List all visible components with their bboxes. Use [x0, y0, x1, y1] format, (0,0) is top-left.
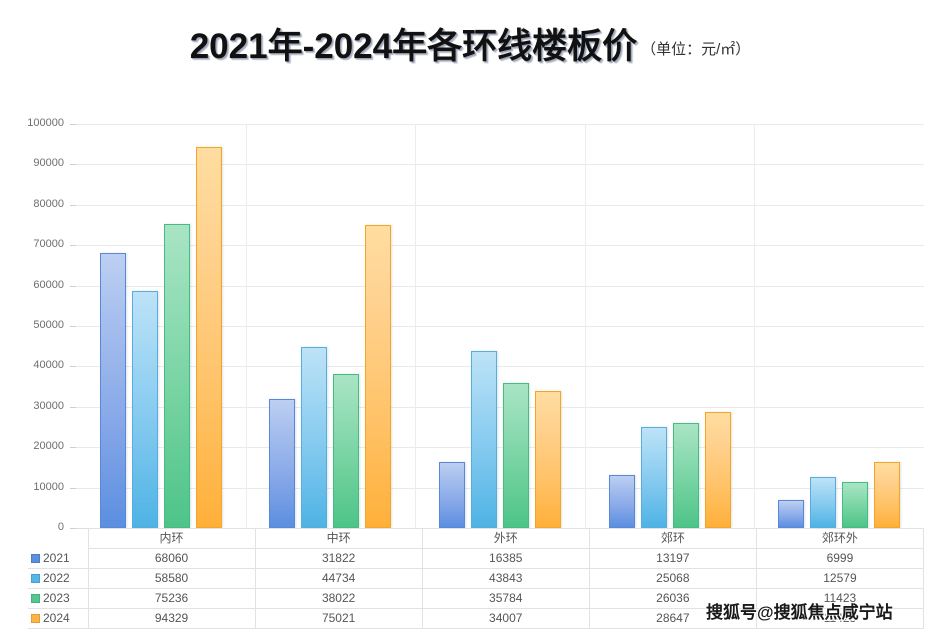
table-cell: 25068 — [589, 569, 756, 589]
y-axis-label-text: 20000 — [33, 440, 64, 452]
watermark-label: 搜狐号@搜狐焦点咸宁站 — [706, 598, 893, 623]
legend-swatch-icon — [31, 594, 40, 603]
bar-2021-内环[interactable] — [100, 253, 126, 528]
legend-swatch-icon — [31, 554, 40, 563]
y-axis-tick — [70, 205, 76, 206]
table-cell: 35784 — [422, 589, 589, 609]
table-cell: 58580 — [88, 569, 255, 589]
table-cell: 16385 — [422, 549, 589, 569]
chart-page: 2021年-2024年各环线楼板价（单位：元/㎡） 10000090000800… — [0, 0, 940, 635]
table-column-header-中环: 中环 — [255, 529, 422, 549]
table-row: 2021680603182216385131976999 — [28, 549, 924, 569]
legend-item-2022[interactable]: 2022 — [28, 569, 88, 589]
legend-label: 2023 — [43, 591, 70, 605]
title-unit-label: （单位：元/㎡） — [641, 41, 750, 58]
bar-2023-中环[interactable] — [333, 374, 359, 528]
category-separator — [754, 124, 755, 528]
legend-item-2021[interactable]: 2021 — [28, 549, 88, 569]
bar-2024-中环[interactable] — [365, 225, 391, 528]
bar-2023-郊环外[interactable] — [842, 482, 868, 528]
y-axis-label-text: 70000 — [33, 238, 64, 250]
table-cell: 75236 — [88, 589, 255, 609]
category-separator — [415, 124, 416, 528]
legend-swatch-icon — [31, 574, 40, 583]
table-cell: 13197 — [589, 549, 756, 569]
page-title: 2021年-2024年各环线楼板价 — [190, 27, 637, 66]
y-axis-tick — [70, 245, 76, 246]
y-axis-tick — [70, 407, 76, 408]
table-header: 内环中环外环郊环郊环外 — [28, 529, 924, 549]
legend-item-2024[interactable]: 2024 — [28, 609, 88, 629]
y-axis-label-text: 10000 — [33, 481, 64, 493]
bar-2023-郊环[interactable] — [673, 423, 699, 528]
y-axis-label-text: 100000 — [27, 117, 64, 129]
table-column-header-内环: 内环 — [88, 529, 255, 549]
legend-label: 2021 — [43, 551, 70, 565]
table-cell: 31822 — [255, 549, 422, 569]
bar-2022-外环[interactable] — [471, 351, 497, 528]
table-column-header-外环: 外环 — [422, 529, 589, 549]
table-cell: 75021 — [255, 609, 422, 629]
y-axis-label-text: 80000 — [33, 198, 64, 210]
category-separator — [246, 124, 247, 528]
y-axis-label-text: 90000 — [33, 157, 64, 169]
table-cell: 43843 — [422, 569, 589, 589]
table-cell: 38022 — [255, 589, 422, 609]
bar-2021-中环[interactable] — [269, 399, 295, 528]
table-cell: 6999 — [756, 549, 923, 569]
bar-2024-郊环外[interactable] — [874, 462, 900, 528]
bar-2022-内环[interactable] — [132, 291, 158, 528]
y-axis-label-text: 50000 — [33, 319, 64, 331]
y-axis-tick — [70, 124, 76, 125]
y-axis-tick — [70, 286, 76, 287]
y-axis-label-text: 40000 — [33, 359, 64, 371]
y-axis-label-text: 30000 — [33, 400, 64, 412]
y-axis-tick — [70, 164, 76, 165]
table-cell: 68060 — [88, 549, 255, 569]
legend-label: 2022 — [43, 571, 70, 585]
y-axis-tick — [70, 447, 76, 448]
bar-chart-plot-area: 1000009000080000700006000050000400003000… — [76, 124, 924, 528]
bar-2021-郊环外[interactable] — [778, 500, 804, 528]
table-column-header-郊环外: 郊环外 — [756, 529, 923, 549]
bar-2022-中环[interactable] — [301, 347, 327, 528]
category-separator — [585, 124, 586, 528]
table-cell: 34007 — [422, 609, 589, 629]
y-axis-tick — [70, 366, 76, 367]
table-cell: 12579 — [756, 569, 923, 589]
bar-2021-外环[interactable] — [439, 462, 465, 528]
bar-2024-郊环[interactable] — [705, 412, 731, 528]
y-axis-label-text: 60000 — [33, 279, 64, 291]
bar-2024-外环[interactable] — [535, 391, 561, 528]
table-cell: 44734 — [255, 569, 422, 589]
legend-swatch-icon — [31, 614, 40, 623]
y-gridline — [76, 124, 924, 125]
bar-2024-内环[interactable] — [196, 147, 222, 528]
bar-2022-郊环[interactable] — [641, 427, 667, 528]
table-column-header-郊环: 郊环 — [589, 529, 756, 549]
bar-2023-内环[interactable] — [164, 224, 190, 528]
table-corner-cell — [28, 529, 88, 549]
y-axis-tick — [70, 488, 76, 489]
legend-item-2023[interactable]: 2023 — [28, 589, 88, 609]
chart-title-bar: 2021年-2024年各环线楼板价（单位：元/㎡） — [0, 18, 940, 69]
table-header-row: 内环中环外环郊环郊环外 — [28, 529, 924, 549]
table-cell: 94329 — [88, 609, 255, 629]
table-row: 20225858044734438432506812579 — [28, 569, 924, 589]
bar-2022-郊环外[interactable] — [810, 477, 836, 528]
bar-2021-郊环[interactable] — [609, 475, 635, 528]
y-axis-tick — [70, 326, 76, 327]
bar-2023-外环[interactable] — [503, 383, 529, 528]
legend-label: 2024 — [43, 611, 70, 625]
